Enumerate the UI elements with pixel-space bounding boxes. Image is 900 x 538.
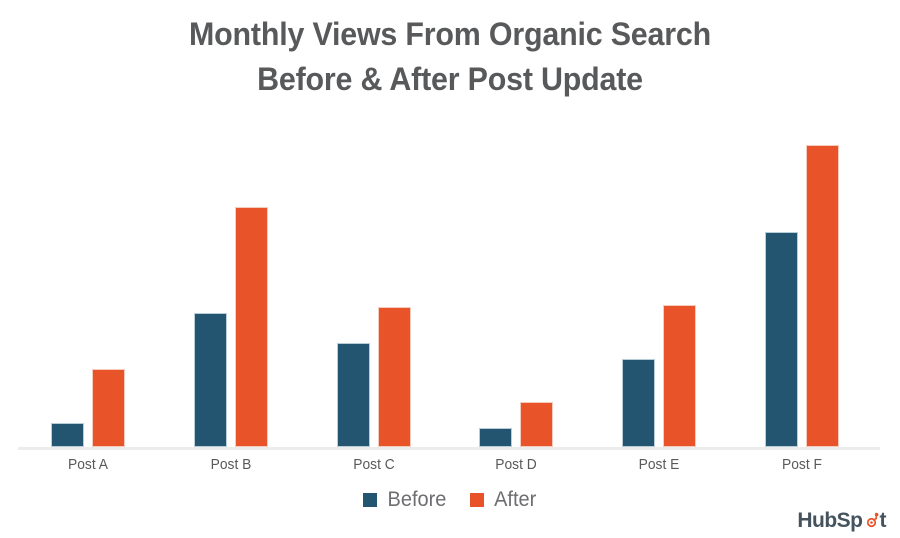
x-axis-line [18,447,880,450]
x-axis-label-post-c: Post C [318,455,428,475]
bar-after[interactable] [235,207,268,447]
legend-swatch-after [470,493,484,507]
chart-container: Monthly Views From Organic Search Before… [0,0,900,538]
bar-before[interactable] [51,423,84,447]
chart-title-line-2: Before & After Post Update [23,57,878,102]
hubspot-logo: HubSp t [797,510,886,531]
x-axis-tick-labels: Post APost BPost CPost DPost EPost F [0,455,900,479]
legend-item-after[interactable]: After [470,489,537,511]
plot-area [0,120,900,447]
legend-item-before[interactable]: Before [363,489,448,511]
bar-before[interactable] [622,359,655,447]
chart-title-line-1: Monthly Views From Organic Search [23,12,878,57]
chart-legend: BeforeAfter [0,489,900,511]
bar-before[interactable] [337,343,370,447]
bar-after[interactable] [663,305,696,447]
bar-before[interactable] [479,428,512,447]
x-axis-label-post-b: Post B [176,455,286,475]
legend-label-before: Before [387,489,446,511]
x-axis-label-post-e: Post E [604,455,714,475]
x-axis-label-post-f: Post F [747,455,857,475]
hubspot-wordmark: HubSp [797,510,862,531]
legend-swatch-before [363,493,377,507]
bar-after[interactable] [806,145,839,447]
bar-after[interactable] [378,307,411,447]
legend-label-after: After [494,489,536,511]
x-axis-label-post-d: Post D [461,455,571,475]
hubspot-sprocket-icon [863,512,880,529]
bar-before[interactable] [765,232,798,447]
x-axis-label-post-a: Post A [33,455,143,475]
hubspot-wordmark-tail: t [880,510,887,531]
bar-after[interactable] [92,369,125,447]
bar-before[interactable] [194,313,227,447]
chart-title: Monthly Views From Organic Search Before… [0,12,900,102]
bar-after[interactable] [520,402,553,447]
